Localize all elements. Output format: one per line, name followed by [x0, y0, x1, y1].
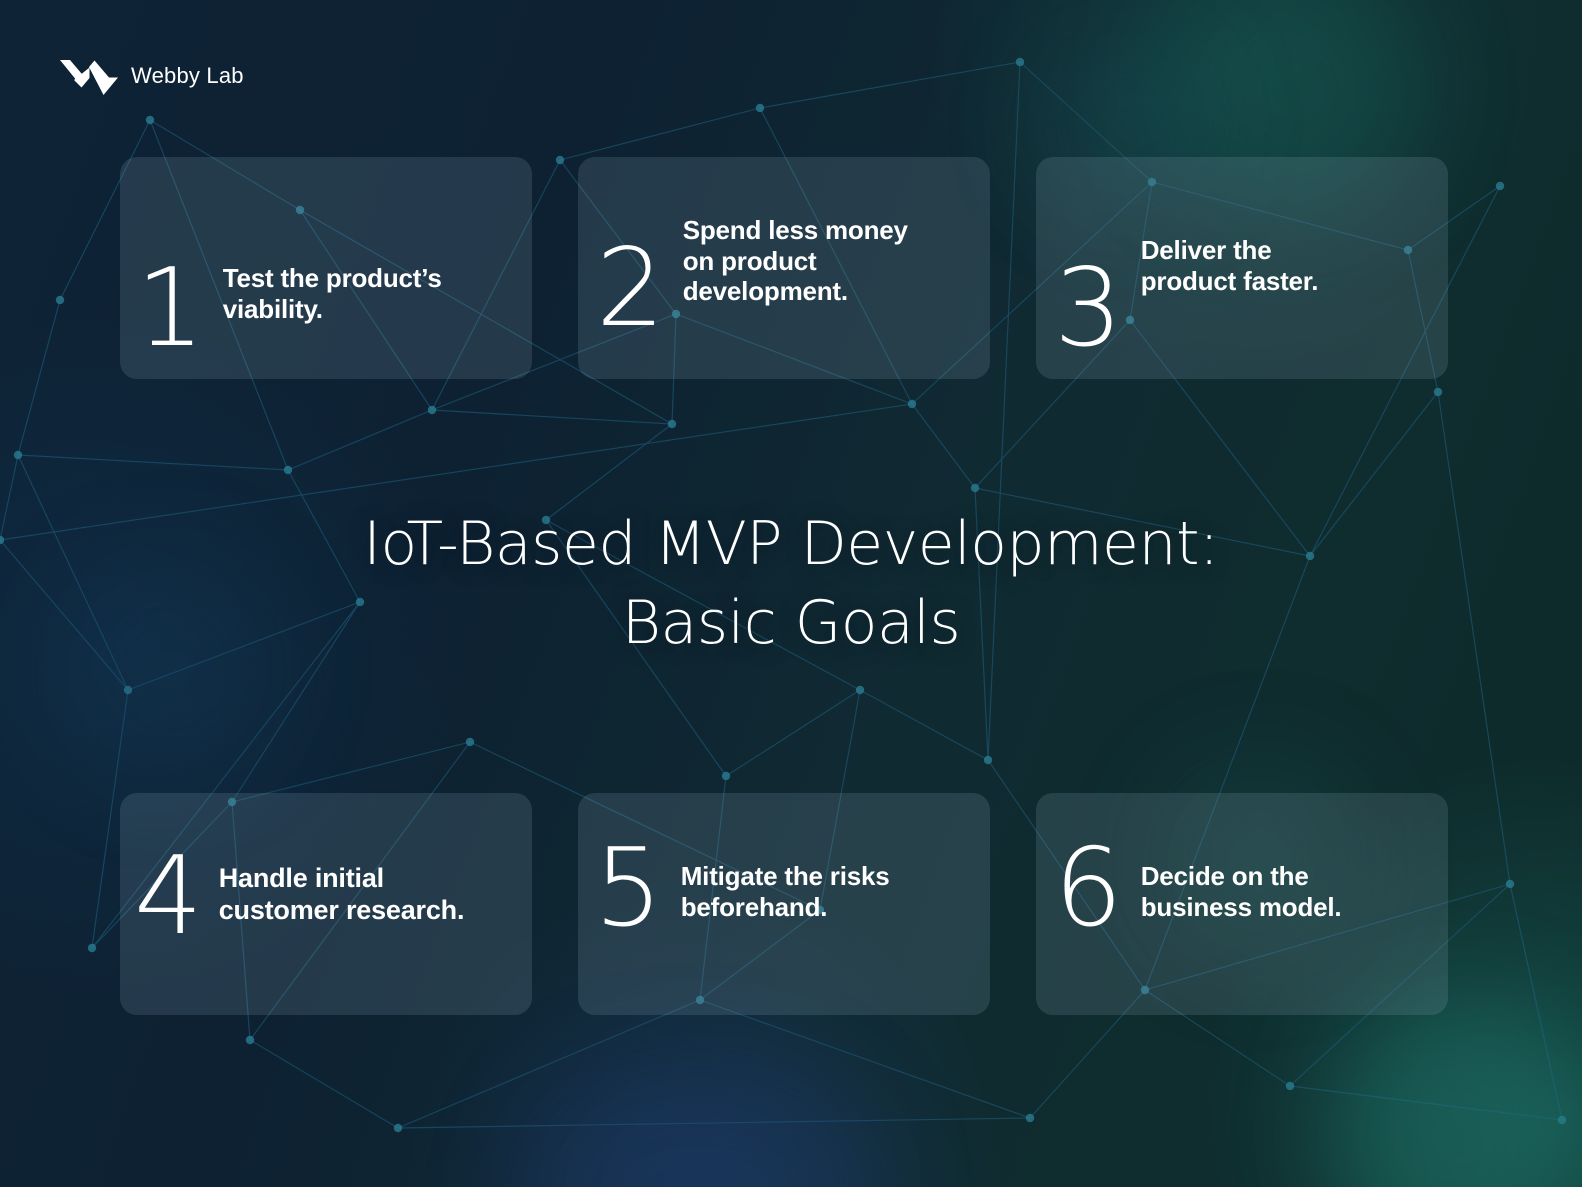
brand-name: Webby Lab	[131, 63, 244, 89]
brand-logo[interactable]: Webby Lab	[60, 56, 244, 96]
goal-label-3: Deliver the product faster.	[1141, 235, 1448, 296]
page-title: IoT-Based MVP Development: Basic Goals	[0, 505, 1582, 663]
goal-card-3[interactable]: 3 Deliver the product faster.	[1036, 157, 1448, 379]
goal-card-5[interactable]: 5 Mitigate the risks beforehand.	[578, 793, 990, 1015]
goal-card-6[interactable]: 6 Decide on the business model.	[1036, 793, 1448, 1015]
webbylab-w-chevron-logo-icon	[60, 56, 118, 96]
goal-number-6: 6	[1054, 835, 1121, 943]
goal-label-2: Spend less money on product development.	[683, 215, 990, 307]
goal-number-2: 2	[596, 235, 663, 343]
goal-card-4[interactable]: 4 Handle initial customer research.	[120, 793, 532, 1015]
infographic-canvas: Webby Lab 1 Test the product’s viability…	[0, 0, 1582, 1187]
goal-card-1[interactable]: 1 Test the product’s viability.	[120, 157, 532, 379]
goal-number-1: 1	[136, 255, 203, 363]
goal-label-6: Decide on the business model.	[1141, 861, 1448, 922]
goal-label-4: Handle initial customer research.	[219, 863, 532, 927]
goal-card-2[interactable]: 2 Spend less money on product developmen…	[578, 157, 990, 379]
goal-number-4: 4	[134, 843, 201, 951]
goal-label-5: Mitigate the risks beforehand.	[681, 861, 990, 922]
goal-number-3: 3	[1054, 255, 1121, 363]
goal-number-5: 5	[594, 835, 661, 943]
goal-label-1: Test the product’s viability.	[223, 263, 532, 324]
